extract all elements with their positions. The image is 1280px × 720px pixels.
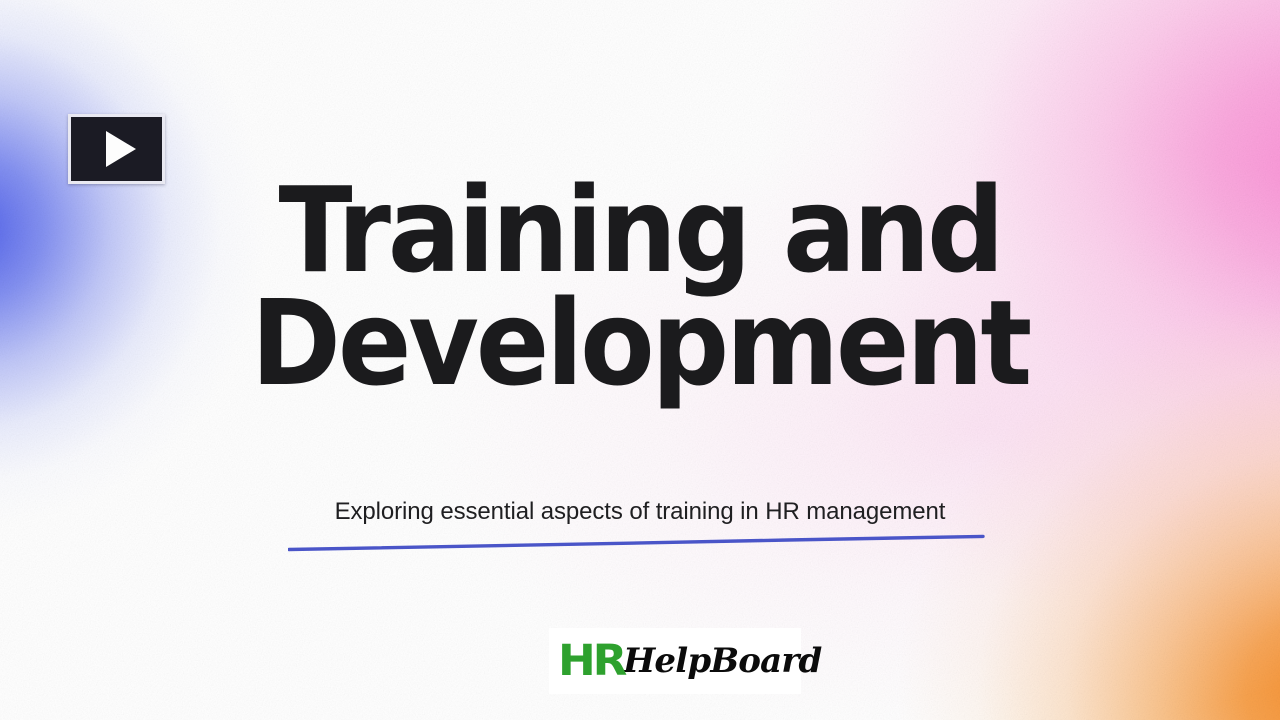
logo-mark-hr: HR bbox=[558, 640, 624, 683]
subtitle-underline bbox=[288, 534, 985, 552]
title-line-2: Development bbox=[51, 287, 1229, 400]
title-line-1: Training and bbox=[51, 174, 1229, 287]
subtitle-container: Exploring essential aspects of training … bbox=[0, 498, 1280, 526]
page-title: Training and Development bbox=[0, 174, 1280, 401]
logo-wordmark: HelpBoard bbox=[623, 644, 821, 678]
subtitle-text: Exploring essential aspects of training … bbox=[335, 498, 946, 525]
presentation-slide: Training and Development Exploring essen… bbox=[0, 0, 1280, 720]
brand-logo: HR HelpBoard bbox=[549, 628, 801, 694]
play-icon bbox=[106, 131, 136, 167]
